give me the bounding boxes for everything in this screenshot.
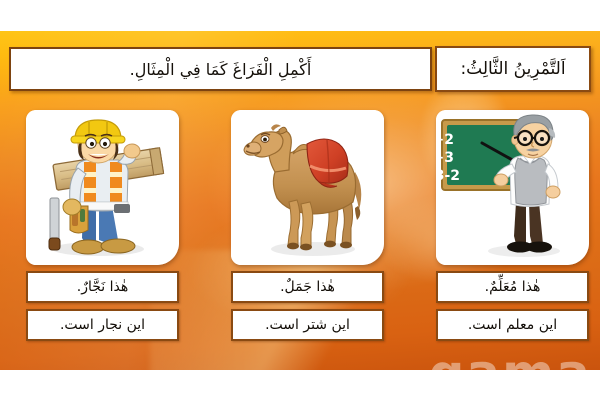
caption-arabic-carpenter: هٰذا نَجَّارٌ. xyxy=(26,271,179,303)
column-camel: هٰذا جَمَلٌ. این شتر است. xyxy=(231,110,384,360)
exercise-title: اَلتَّمْرِينُ الثَّالِثُ: xyxy=(460,59,565,79)
picture-card-teacher[interactable]: 1+2= 1+3= 3-2= xyxy=(436,110,589,265)
instruction-text: أَكْمِلِ الْفَرَاغَ كَمَا فِي الْمِثَالِ… xyxy=(130,60,312,79)
exercise-title-box: اَلتَّمْرِينُ الثَّالِثُ: xyxy=(435,46,591,92)
caption-arabic-text: هٰذا نَجَّارٌ. xyxy=(77,279,128,295)
caption-arabic-text: هٰذا مُعَلِّمٌ. xyxy=(485,279,541,295)
teacher-illustration: 1+2= 1+3= 3-2= xyxy=(436,110,589,265)
picture-card-camel[interactable] xyxy=(231,110,384,265)
picture-card-carpenter[interactable] xyxy=(26,110,179,265)
instruction-box: أَكْمِلِ الْفَرَاغَ كَمَا فِي الْمِثَالِ… xyxy=(9,47,432,91)
top-white-strip xyxy=(0,0,600,31)
caption-persian-carpenter: این نجار است. xyxy=(26,309,179,341)
caption-arabic-camel: هٰذا جَمَلٌ. xyxy=(231,271,384,303)
caption-persian-teacher: این معلم است. xyxy=(436,309,589,341)
caption-persian-text: این نجار است. xyxy=(60,317,145,333)
caption-persian-text: این شتر است. xyxy=(265,317,350,333)
column-carpenter: هٰذا نَجَّارٌ. این نجار است. xyxy=(26,110,179,360)
caption-persian-camel: این شتر است. xyxy=(231,309,384,341)
caption-persian-text: این معلم است. xyxy=(468,317,557,333)
saw-icon xyxy=(49,198,60,250)
column-teacher: 1+2= 1+3= 3-2= xyxy=(436,110,589,360)
camel-illustration xyxy=(231,110,384,265)
caption-arabic-teacher: هٰذا مُعَلِّمٌ. xyxy=(436,271,589,303)
chalkboard-line-2: 1+3= xyxy=(436,150,454,166)
brand-watermark: gama xyxy=(429,348,592,398)
slide-root: اَلتَّمْرِينُ الثَّالِثُ: أَكْمِلِ الْفَ… xyxy=(0,0,600,400)
caption-arabic-text: هٰذا جَمَلٌ. xyxy=(280,279,335,295)
exercise-columns: هٰذا نَجَّارٌ. این نجار است. xyxy=(0,110,600,360)
chalkboard-line-1: 1+2= xyxy=(436,132,454,148)
carpenter-illustration xyxy=(26,110,179,265)
chalkboard-line-3: 3-2= xyxy=(436,168,460,184)
